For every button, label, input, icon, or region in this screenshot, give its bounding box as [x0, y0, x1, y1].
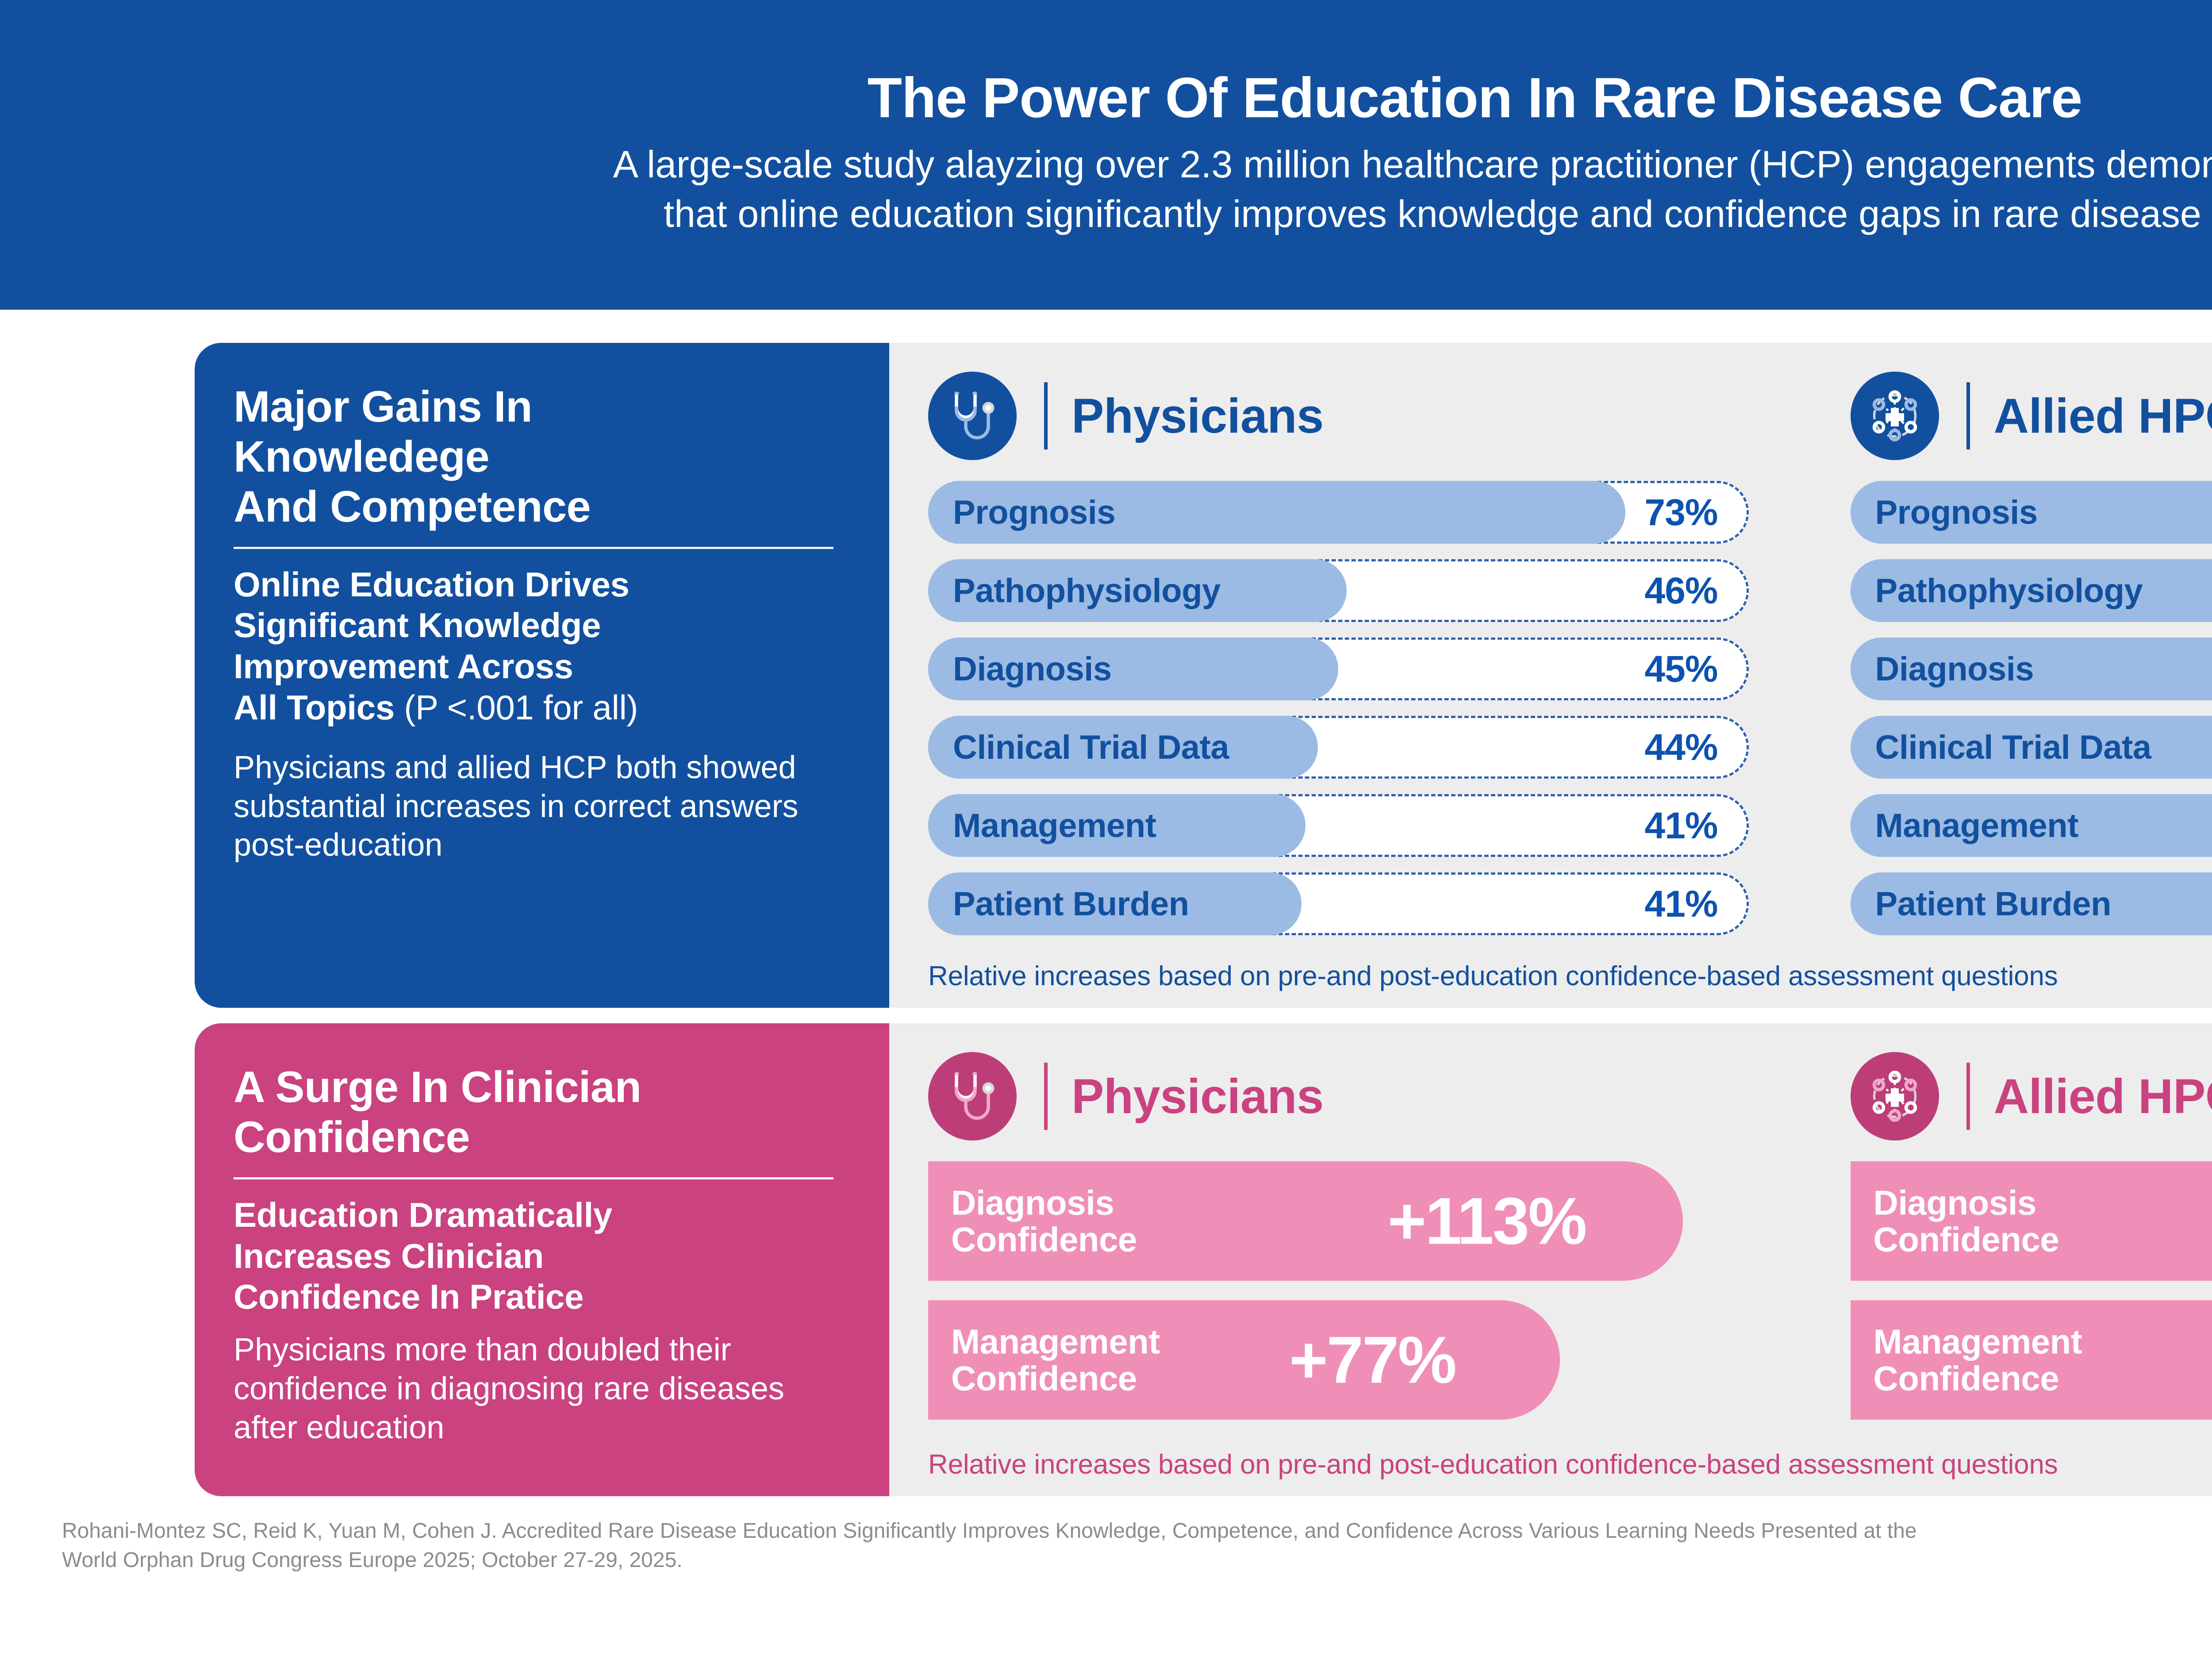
bar-label: Patient Burden — [1875, 872, 2112, 935]
pill-label-line2: Confidence — [951, 1221, 1137, 1258]
knowledge-subhead-line1: Online Education Drives — [234, 564, 851, 605]
confidence-card-title-line2: Confidence — [234, 1112, 851, 1162]
knowledge-physicians-header: Physicians — [928, 369, 1749, 462]
table-row: Pathophysiology 58% — [1851, 559, 2212, 622]
stethoscope-icon — [928, 372, 1017, 460]
page-subtitle-line-2: that online education significantly impr… — [664, 190, 2212, 239]
knowledge-allied-header: Allied HPCs — [1851, 369, 2212, 462]
confidence-group-allied: Allied HPCs Diagnosis Confidence +50% — [1833, 1050, 2212, 1439]
confidence-card-title-line1: A Surge In Clinician — [234, 1062, 851, 1112]
knowledge-card-subhead: Online Education Drives Significant Know… — [234, 564, 851, 728]
pill-label-line2: Confidence — [1874, 1360, 2082, 1397]
knowledge-card-title-line1: Major Gains In — [234, 382, 851, 432]
citation-line-2: World Orphan Drug Congress Europe 2025; … — [62, 1546, 2212, 1575]
bar-value: 73% — [1644, 481, 1717, 544]
confidence-card-subhead: Education Dramatically Increases Clinici… — [234, 1194, 851, 1317]
confidence-footnote: Relative increases based on pre-and post… — [928, 1449, 2212, 1480]
pill-label: Management Confidence — [951, 1323, 1160, 1396]
knowledge-subhead-line4: All Topics (P <.001 for all) — [234, 687, 851, 728]
list-item: Management Confidence +77% — [928, 1300, 1749, 1420]
table-row: Management 51% — [1851, 794, 2212, 857]
confidence-physicians-divider — [1044, 1063, 1048, 1130]
bar-label: Prognosis — [953, 481, 1115, 544]
confidence-card-title: A Surge In Clinician Confidence — [234, 1062, 851, 1162]
knowledge-group-physicians: Physicians Prognosis 73% Pathophysiol — [928, 369, 1833, 951]
bar-label: Diagnosis — [1875, 637, 2034, 700]
bar-value: 41% — [1644, 794, 1717, 857]
page-header: The Power Of Education In Rare Disease C… — [0, 0, 2212, 310]
pill-label-line2: Confidence — [1874, 1221, 2059, 1258]
confidence-physicians-label: Physicians — [1071, 1068, 1324, 1125]
bar-label: Pathophysiology — [1875, 559, 2143, 622]
pill-label: Management Confidence — [1874, 1323, 2082, 1396]
knowledge-charts: Physicians Prognosis 73% Pathophysiol — [889, 343, 2212, 1008]
confidence-subhead-line3: Confidence In Pratice — [234, 1276, 851, 1317]
table-row: Prognosis 73% — [928, 481, 1749, 544]
knowledge-allied-label: Allied HPCs — [1994, 388, 2212, 444]
knowledge-subhead-line3: Improvement Across — [234, 646, 851, 687]
bar-label: Patient Burden — [953, 872, 1189, 935]
knowledge-footnote: Relative increases based on pre-and post… — [928, 960, 2212, 992]
confidence-allied-header: Allied HPCs — [1851, 1050, 2212, 1143]
table-row: Prognosis 79% — [1851, 481, 2212, 544]
list-item: Management Confidence +40% — [1851, 1300, 2212, 1420]
confidence-chart-columns: Physicians Diagnosis Confidence +113% — [928, 1050, 2212, 1439]
table-row: Pathophysiology 46% — [928, 559, 1749, 622]
knowledge-physicians-label: Physicians — [1071, 388, 1324, 444]
bar-label: Prognosis — [1875, 481, 2038, 544]
confidence-subhead-line2: Increases Clinician — [234, 1236, 851, 1277]
list-item: Diagnosis Confidence +50% — [1851, 1161, 2212, 1281]
confidence-card-note: Physicians more than doubled their confi… — [234, 1331, 851, 1447]
confidence-section: A Surge In Clinician Confidence Educatio… — [195, 1023, 2212, 1496]
knowledge-subhead-line2: Significant Knowledge — [234, 605, 851, 646]
confidence-subhead-line1: Education Dramatically — [234, 1194, 851, 1236]
pill-label: Diagnosis Confidence — [1874, 1184, 2059, 1257]
knowledge-card-title-line3: And Competence — [234, 482, 851, 532]
knowledge-subhead-pvalue: (P <.001 for all) — [395, 688, 638, 727]
table-row: Diagnosis 45% — [928, 637, 1749, 700]
bar-label: Management — [1875, 794, 2079, 857]
bar-label: Clinical Trial Data — [953, 716, 1229, 779]
bar-label: Pathophysiology — [953, 559, 1221, 622]
knowledge-allied-bars: Prognosis 79% Pathophysiology 58% — [1851, 481, 2212, 951]
table-row: Patient Burden 41% — [928, 872, 1749, 935]
page-subtitle-line-1: A large-scale study alayzing over 2.3 mi… — [613, 140, 2212, 190]
knowledge-group-allied: Allied HPCs Prognosis 79% Pathophysio — [1833, 369, 2212, 951]
infographic-body: Major Gains In Knowledege And Competence… — [0, 310, 2212, 1575]
medical-network-icon — [1851, 1052, 1939, 1141]
pill-label-line1: Diagnosis — [1874, 1184, 2059, 1221]
stethoscope-icon — [928, 1052, 1017, 1141]
confidence-allied-divider — [1966, 1063, 1970, 1130]
list-item: Diagnosis Confidence +113% — [928, 1161, 1749, 1281]
knowledge-allied-divider — [1966, 382, 1970, 449]
table-row: Clinical Trial Data 44% — [928, 716, 1749, 779]
knowledge-chart-columns: Physicians Prognosis 73% Pathophysiol — [928, 369, 2212, 951]
pill-value: +77% — [1289, 1322, 1455, 1398]
confidence-physicians-header: Physicians — [928, 1050, 1749, 1143]
knowledge-summary-card: Major Gains In Knowledege And Competence… — [195, 343, 889, 1008]
citation-line-1: Rohani-Montez SC, Reid K, Yuan M, Cohen … — [62, 1517, 2212, 1546]
confidence-physicians-pills: Diagnosis Confidence +113% Management Co… — [928, 1161, 1749, 1439]
knowledge-physicians-bars: Prognosis 73% Pathophysiology 46% — [928, 481, 1749, 951]
confidence-group-physicians: Physicians Diagnosis Confidence +113% — [928, 1050, 1833, 1439]
pill-value: +113% — [1388, 1183, 1586, 1260]
pill-label-line1: Management — [951, 1323, 1160, 1360]
bar-label: Diagnosis — [953, 637, 1112, 700]
knowledge-section: Major Gains In Knowledege And Competence… — [195, 343, 2212, 1008]
confidence-allied-label: Allied HPCs — [1994, 1068, 2212, 1125]
bar-value: 45% — [1644, 637, 1717, 700]
bar-label: Management — [953, 794, 1156, 857]
confidence-allied-pills: Diagnosis Confidence +50% Management Con… — [1851, 1161, 2212, 1439]
knowledge-card-title-line2: Knowledege — [234, 432, 851, 482]
knowledge-card-note: Physicians and allied HCP both showed su… — [234, 749, 851, 865]
confidence-charts: Physicians Diagnosis Confidence +113% — [889, 1023, 2212, 1496]
bar-value: 46% — [1644, 559, 1717, 622]
bar-value: 44% — [1644, 716, 1717, 779]
confidence-card-divider — [234, 1177, 833, 1179]
pill-label-line1: Management — [1874, 1323, 2082, 1360]
bar-value: 41% — [1644, 872, 1717, 935]
pill-label: Diagnosis Confidence — [951, 1184, 1137, 1257]
medical-network-icon — [1851, 372, 1939, 460]
table-row: Patient Burden 50% — [1851, 872, 2212, 935]
citation: Rohani-Montez SC, Reid K, Yuan M, Cohen … — [62, 1517, 2212, 1575]
pill-label-line1: Diagnosis — [951, 1184, 1137, 1221]
table-row: Clinical Trial Data 51% — [1851, 716, 2212, 779]
knowledge-subhead-line4-bold: All Topics — [234, 688, 395, 727]
page-title: The Power Of Education In Rare Disease C… — [868, 66, 2082, 130]
table-row: Diagnosis 52% — [1851, 637, 2212, 700]
confidence-summary-card: A Surge In Clinician Confidence Educatio… — [195, 1023, 889, 1496]
knowledge-card-title: Major Gains In Knowledege And Competence — [234, 382, 851, 532]
knowledge-card-divider — [234, 547, 833, 549]
table-row: Management 41% — [928, 794, 1749, 857]
knowledge-physicians-divider — [1044, 382, 1048, 449]
pill-label-line2: Confidence — [951, 1360, 1160, 1397]
bar-label: Clinical Trial Data — [1875, 716, 2151, 779]
